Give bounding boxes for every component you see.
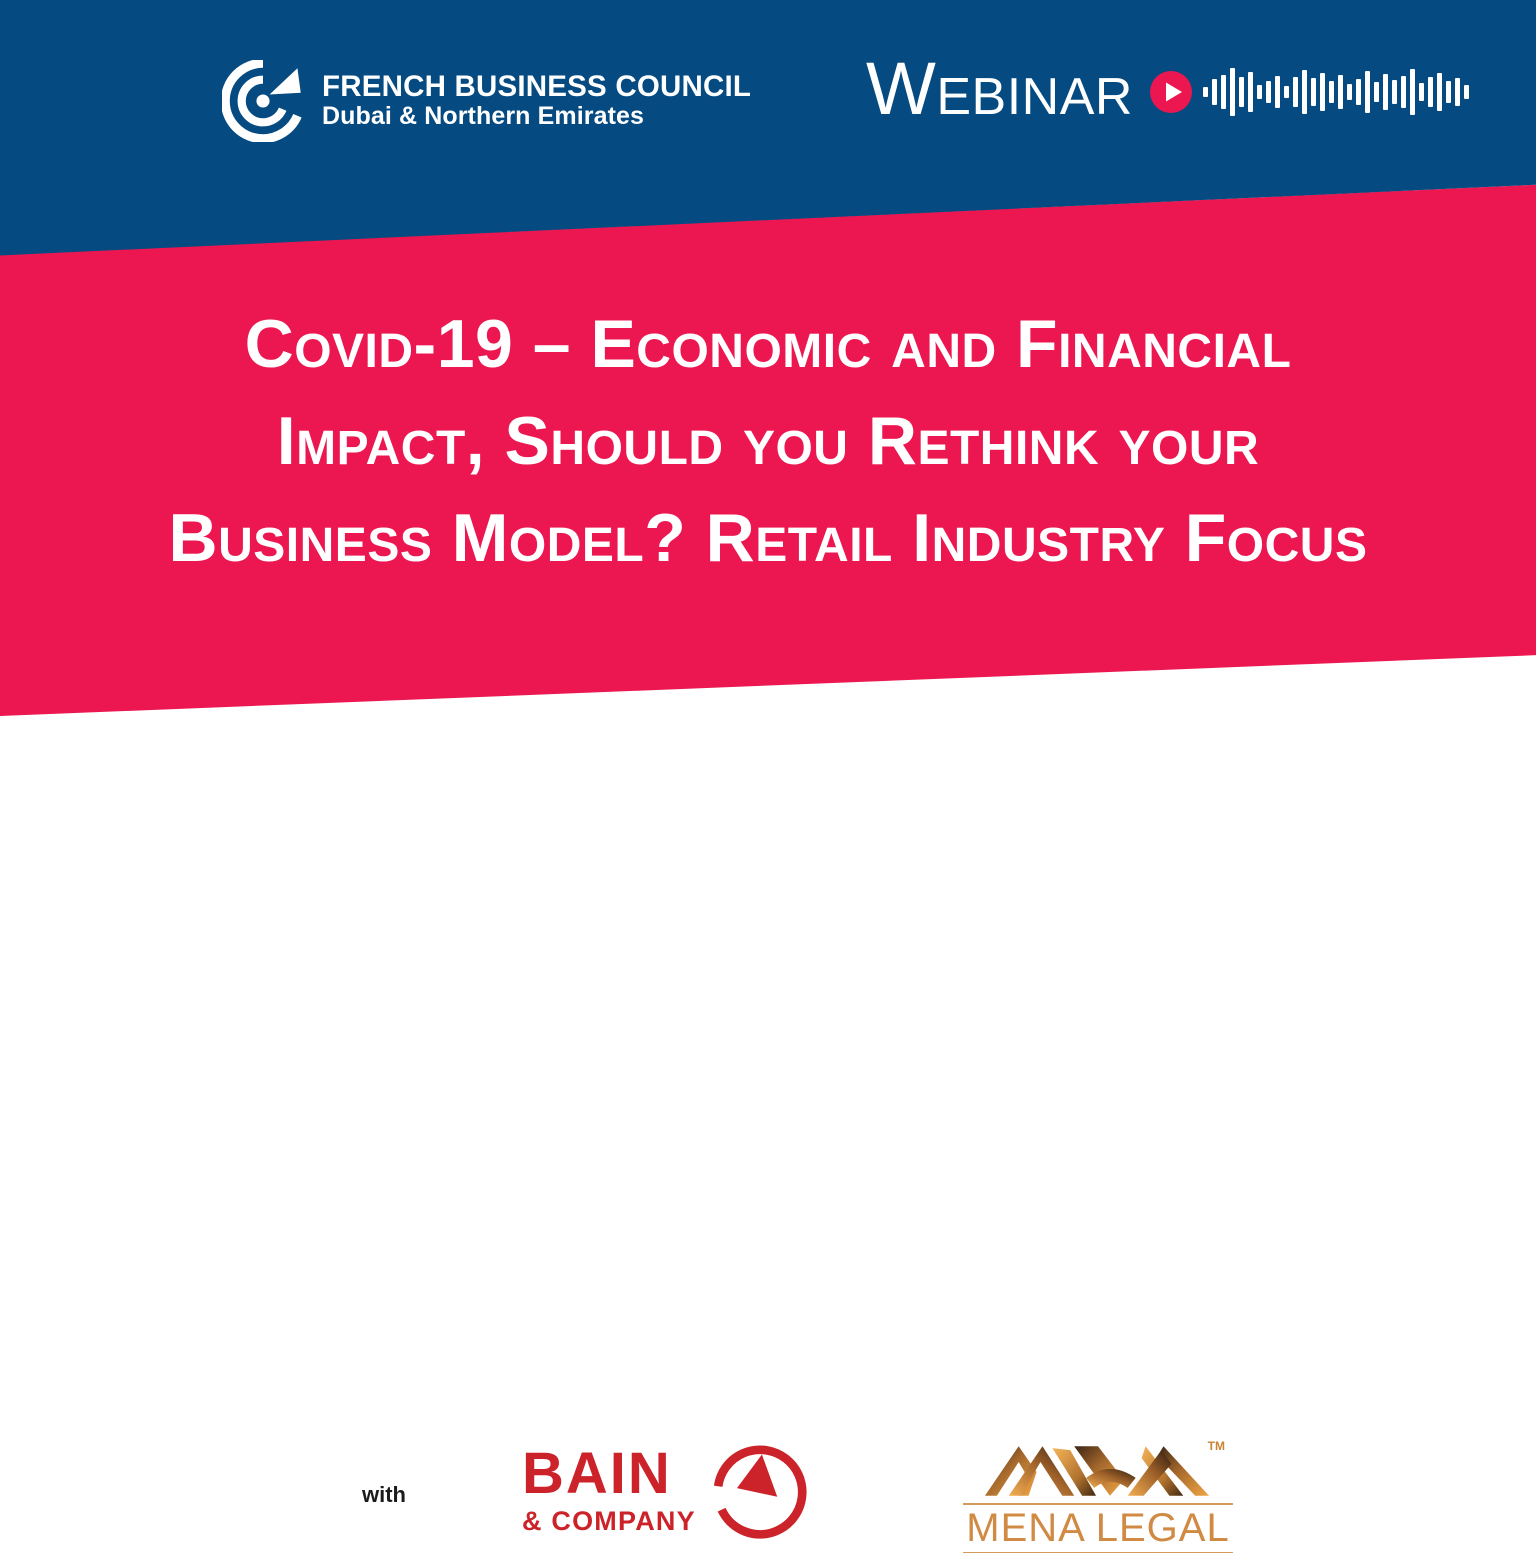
waveform-bar bbox=[1464, 85, 1469, 99]
header-region: FRENCH BUSINESS COUNCIL Dubai & Northern… bbox=[0, 0, 1536, 190]
event-type-lockup: Webinar bbox=[866, 52, 1469, 126]
waveform-bar bbox=[1275, 76, 1280, 108]
title-line-3: Business Model? Retail Industry Focus bbox=[0, 490, 1536, 587]
waveform-bar bbox=[1428, 77, 1433, 107]
waveform-bar bbox=[1401, 76, 1406, 108]
waveform-bar bbox=[1356, 79, 1361, 105]
webinar-title: Covid-19 – Economic and Financial Impact… bbox=[0, 296, 1536, 587]
fbc-target-logo-icon bbox=[222, 60, 304, 142]
bain-name-sub: & COMPANY bbox=[522, 1505, 696, 1539]
waveform-bar bbox=[1374, 82, 1379, 102]
webinar-label: Webinar bbox=[866, 52, 1133, 126]
waveform-bar bbox=[1212, 79, 1217, 105]
waveform-bar bbox=[1338, 75, 1343, 109]
trademark-symbol: TM bbox=[1208, 1440, 1225, 1452]
waveform-bar bbox=[1302, 70, 1307, 114]
organization-name-line2: Dubai & Northern Emirates bbox=[322, 102, 751, 131]
waveform-bar bbox=[1266, 81, 1271, 103]
waveform-bar bbox=[1203, 87, 1208, 97]
mena-mark-wrapper: TM bbox=[963, 1438, 1233, 1500]
partner-logo-bain[interactable]: BAIN & COMPANY bbox=[522, 1444, 808, 1540]
waveform-bar bbox=[1392, 80, 1397, 104]
waveform-bar bbox=[1311, 78, 1316, 106]
bain-name-main: BAIN bbox=[522, 1446, 672, 1503]
waveform-bar bbox=[1455, 78, 1460, 106]
waveform-bar bbox=[1329, 81, 1334, 103]
partners-region: with BAIN & COMPANY bbox=[0, 716, 1536, 864]
waveform-bar bbox=[1221, 75, 1226, 109]
waveform-bar bbox=[1257, 85, 1262, 99]
waveform-bar bbox=[1419, 83, 1424, 101]
mena-legal-wordmark: MENA LEGAL bbox=[963, 1505, 1233, 1552]
mena-legal-ribbon-icon bbox=[979, 1438, 1217, 1500]
waveform-bar bbox=[1293, 77, 1298, 107]
play-button-icon[interactable] bbox=[1149, 70, 1193, 114]
poster-canvas: FRENCH BUSINESS COUNCIL Dubai & Northern… bbox=[0, 0, 1536, 864]
waveform-bar bbox=[1437, 73, 1442, 111]
organization-name: FRENCH BUSINESS COUNCIL Dubai & Northern… bbox=[322, 71, 751, 131]
waveform-bar bbox=[1239, 77, 1244, 107]
organization-logo-lockup: FRENCH BUSINESS COUNCIL Dubai & Northern… bbox=[222, 60, 751, 142]
bain-circle-triangle-icon bbox=[712, 1444, 808, 1540]
with-label: with bbox=[362, 1484, 406, 1506]
waveform-bar bbox=[1284, 86, 1289, 98]
waveform-bar bbox=[1347, 84, 1352, 100]
partner-logo-mena-legal[interactable]: TM MENA LEGAL bbox=[963, 1438, 1233, 1553]
waveform-bar bbox=[1410, 69, 1415, 115]
waveform-bar bbox=[1446, 81, 1451, 103]
audio-waveform-icon bbox=[1203, 64, 1469, 120]
waveform-bar bbox=[1320, 73, 1325, 111]
waveform-bar bbox=[1230, 68, 1235, 116]
waveform-bar bbox=[1365, 71, 1370, 113]
waveform-bar bbox=[1383, 74, 1388, 110]
waveform-bar bbox=[1248, 72, 1253, 112]
title-line-1: Covid-19 – Economic and Financial bbox=[0, 296, 1536, 393]
title-line-2: Impact, Should you Rethink your bbox=[0, 393, 1536, 490]
bain-wordmark: BAIN & COMPANY bbox=[522, 1446, 696, 1539]
organization-name-line1: FRENCH BUSINESS COUNCIL bbox=[322, 71, 751, 102]
